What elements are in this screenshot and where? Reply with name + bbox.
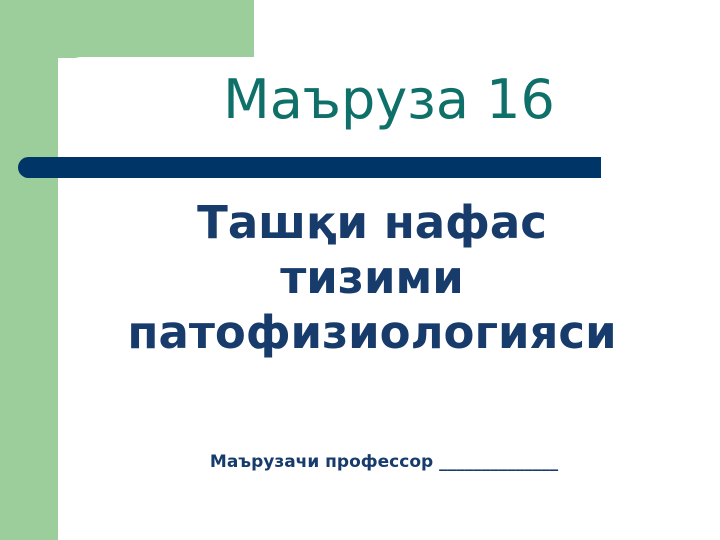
green-top-block <box>0 0 254 58</box>
subtitle-line-3: патофизиологияси <box>58 306 686 361</box>
navy-divider-bar <box>18 157 601 178</box>
slide-title: Маъруза 16 <box>58 72 720 129</box>
subtitle-line-1: Ташқи нафас <box>58 196 686 251</box>
subtitle-line-2: тизими <box>58 251 686 306</box>
green-side-strip <box>0 0 58 540</box>
presentation-slide: Маъруза 16 Ташқи нафас тизими патофизиол… <box>0 0 720 540</box>
slide-subtitle: Ташқи нафас тизими патофизиологияси <box>58 196 686 361</box>
presenter-credit: Маърузачи профессор ______________ <box>58 452 710 472</box>
